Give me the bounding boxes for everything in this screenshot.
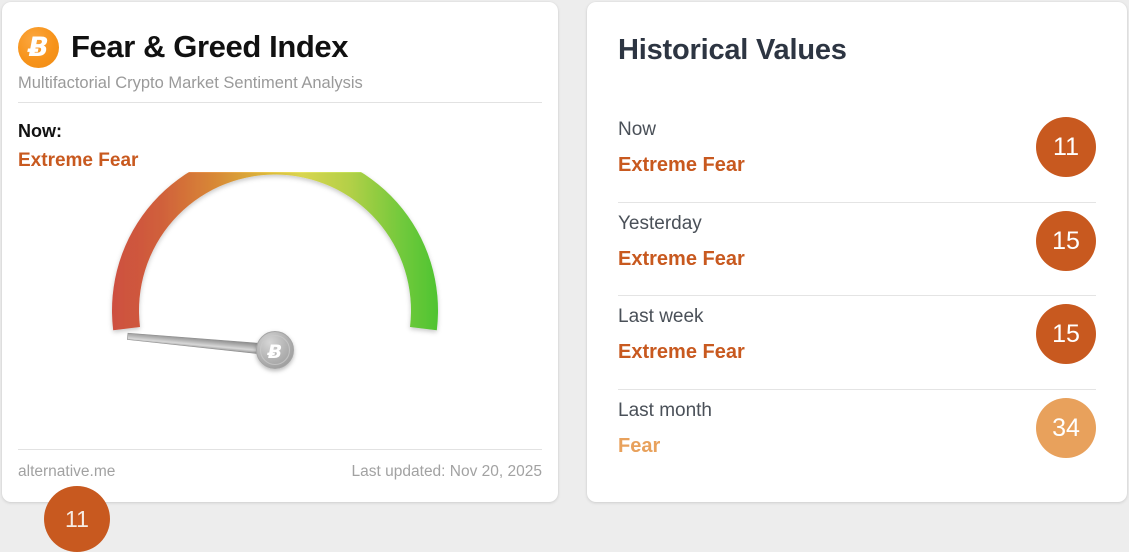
- gauge-hub-bitcoin-icon: Ƀ: [257, 332, 294, 369]
- list-item[interactable]: Now Extreme Fear 11: [618, 109, 1096, 202]
- history-period-label: Last week: [618, 306, 704, 328]
- historical-values-list: Now Extreme Fear 11 Yesterday Extreme Fe…: [618, 109, 1096, 482]
- source-link[interactable]: alternative.me: [18, 463, 115, 481]
- list-item[interactable]: Last week Extreme Fear 15: [618, 295, 1096, 389]
- gauge-chart: Ƀ 11: [16, 172, 546, 434]
- history-classification-label: Extreme Fear: [618, 341, 745, 364]
- gauge-value-badge: 11: [44, 486, 110, 552]
- last-updated-label: Last updated: Nov 20, 2025: [352, 463, 542, 481]
- history-classification-label: Extreme Fear: [618, 248, 745, 271]
- now-label: Now:: [18, 121, 62, 142]
- list-item[interactable]: Yesterday Extreme Fear 15: [618, 202, 1096, 296]
- now-classification: Extreme Fear: [18, 150, 138, 172]
- page-subtitle: Multifactorial Crypto Market Sentiment A…: [18, 74, 363, 93]
- history-value-badge: 34: [1036, 398, 1096, 458]
- history-classification-label: Extreme Fear: [618, 154, 745, 177]
- bitcoin-icon: Ƀ: [18, 27, 59, 68]
- history-value-badge: 15: [1036, 211, 1096, 271]
- history-value-badge: 15: [1036, 304, 1096, 364]
- history-period-label: Last month: [618, 400, 712, 422]
- gauge-card: Ƀ Fear & Greed Index Multifactorial Cryp…: [2, 2, 558, 502]
- history-period-label: Yesterday: [618, 213, 702, 235]
- footer-divider: [18, 449, 542, 450]
- history-classification-label: Fear: [618, 435, 660, 458]
- history-period-label: Now: [618, 119, 656, 141]
- fear-greed-index-widget: Ƀ Fear & Greed Index Multifactorial Cryp…: [0, 0, 1129, 487]
- page-title: Fear & Greed Index: [71, 24, 348, 70]
- svg-text:Ƀ: Ƀ: [267, 341, 282, 363]
- historical-values-title: Historical Values: [618, 34, 847, 67]
- gauge-card-header: Ƀ Fear & Greed Index: [18, 24, 542, 72]
- list-item[interactable]: Last month Fear 34: [618, 389, 1096, 483]
- header-divider: [18, 102, 542, 103]
- history-value-badge: 11: [1036, 117, 1096, 177]
- gauge-svg: Ƀ: [16, 172, 546, 434]
- historical-values-card: Historical Values Now Extreme Fear 11 Ye…: [587, 2, 1127, 502]
- gauge-needle: [127, 331, 275, 356]
- gauge-arc: [112, 172, 438, 330]
